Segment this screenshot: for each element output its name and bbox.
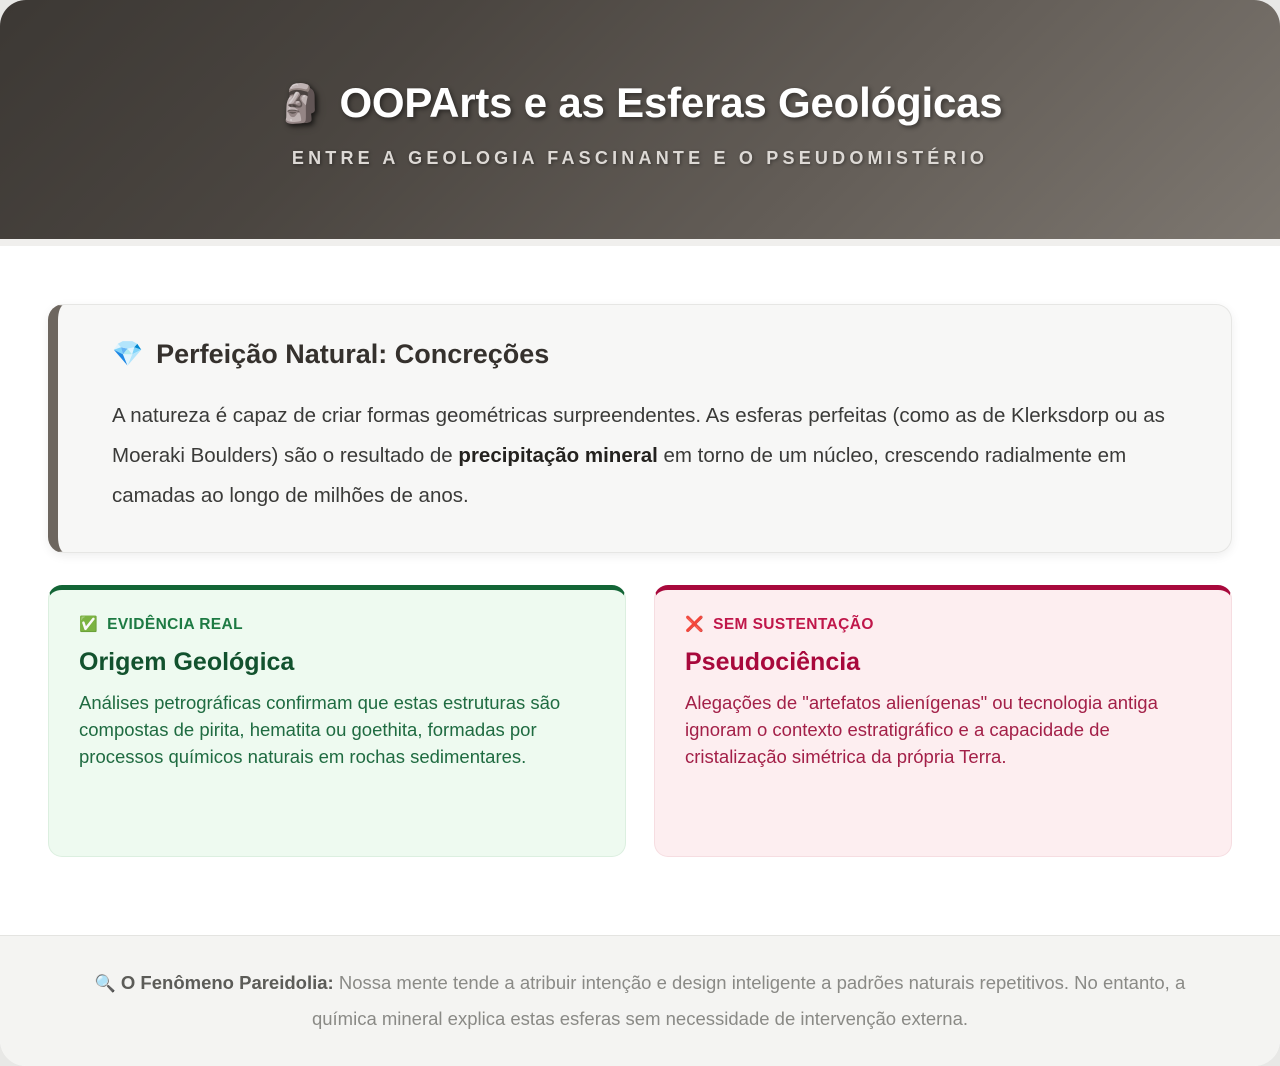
page-title: 🗿 OOPArts e as Esferas Geológicas — [278, 80, 1003, 126]
cross-mark-icon: ❌ — [685, 617, 704, 632]
comparison-row: ✅ EVIDÊNCIA REAL Origem Geológica Anális… — [48, 585, 1232, 857]
footer-note-label: O Fenômeno Pareidolia: — [121, 972, 334, 993]
gem-icon: 💎 — [112, 342, 143, 367]
pseudoscience-card-title: Pseudociência — [685, 648, 1201, 677]
evidence-card-title: Origem Geológica — [79, 648, 595, 677]
moai-icon: 🗿 — [278, 85, 324, 122]
page-header: 🗿 OOPArts e as Esferas Geológicas ENTRE … — [0, 0, 1280, 246]
feature-heading: 💎 Perfeição Natural: Concreções — [112, 339, 1191, 370]
page-title-text: OOPArts e as Esferas Geológicas — [339, 80, 1002, 126]
feature-text-highlight: precipitação mineral — [458, 444, 657, 467]
pseudoscience-badge-label: SEM SUSTENTAÇÃO — [713, 616, 874, 634]
pseudoscience-card-text: Alegações de "artefatos alienígenas" ou … — [685, 690, 1201, 770]
evidence-badge: ✅ EVIDÊNCIA REAL — [79, 616, 595, 634]
feature-heading-text: Perfeição Natural: Concreções — [156, 339, 549, 370]
feature-paragraph: A natureza é capaz de criar formas geomé… — [112, 396, 1191, 516]
feature-card: 💎 Perfeição Natural: Concreções A nature… — [48, 304, 1232, 553]
magnifying-glass-icon: 🔍 — [95, 974, 116, 993]
infographic-page: 🗿 OOPArts e as Esferas Geológicas ENTRE … — [0, 0, 1280, 1066]
footer-note: 🔍O Fenômeno Pareidolia: Nossa mente tend… — [62, 965, 1218, 1037]
evidence-badge-label: EVIDÊNCIA REAL — [107, 616, 243, 634]
page-body: 💎 Perfeição Natural: Concreções A nature… — [0, 246, 1280, 935]
pseudoscience-card: ❌ SEM SUSTENTAÇÃO Pseudociência Alegaçõe… — [654, 585, 1232, 857]
evidence-card: ✅ EVIDÊNCIA REAL Origem Geológica Anális… — [48, 585, 626, 857]
page-footer: 🔍O Fenômeno Pareidolia: Nossa mente tend… — [0, 935, 1280, 1066]
pseudoscience-badge: ❌ SEM SUSTENTAÇÃO — [685, 616, 1201, 634]
page-subtitle: ENTRE A GEOLOGIA FASCINANTE E O PSEUDOMI… — [292, 148, 988, 169]
check-mark-button-icon: ✅ — [79, 617, 98, 632]
evidence-card-text: Análises petrográficas confirmam que est… — [79, 690, 595, 770]
footer-note-text: Nossa mente tende a atribuir intenção e … — [312, 972, 1185, 1029]
